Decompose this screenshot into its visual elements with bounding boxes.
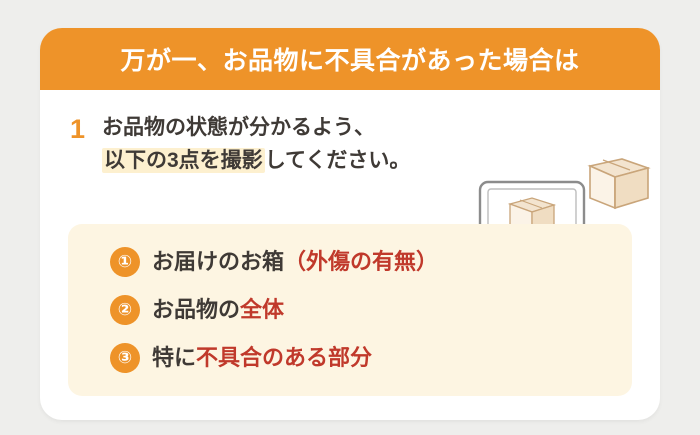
step-highlight: 以下の3点を撮影 <box>102 148 265 173</box>
list-item-accent: （外傷の有無） <box>284 249 438 274</box>
status-badge: ③ <box>110 343 140 373</box>
list-item: ① お届けのお箱（外傷の有無） <box>110 238 622 286</box>
step-line-2-rest: してください。 <box>265 149 411 172</box>
checklist-rows: ① お届けのお箱（外傷の有無） ② お品物の全体 ③ 特に不具合のある部分 <box>110 238 622 382</box>
list-item-text: お品物の <box>152 297 240 322</box>
step-text: お品物の状態が分かるよう、 以下の3点を撮影してください。 <box>102 112 522 177</box>
step-1-block: 1 お品物の状態が分かるよう、 以下の3点を撮影してください。 <box>40 90 660 208</box>
list-item: ③ 特に不具合のある部分 <box>110 334 622 382</box>
info-card: 万が一、お品物に不具合があった場合は 1 お品物の状態が分かるよう、 以下の3点… <box>40 28 660 420</box>
list-item-label: 特に不具合のある部分 <box>152 347 372 369</box>
list-item-text: 特に <box>152 345 196 370</box>
step-line-2: 以下の3点を撮影してください。 <box>102 145 522 178</box>
page-title: 万が一、お品物に不具合があった場合は <box>120 41 579 77</box>
list-item-label: お届けのお箱（外傷の有無） <box>152 251 438 273</box>
step-number: 1 <box>70 116 85 143</box>
step-line-1: お品物の状態が分かるよう、 <box>102 112 522 145</box>
list-item-accent: 全体 <box>240 297 284 322</box>
cardboard-box-icon <box>590 159 648 208</box>
list-item-text: お届けのお箱 <box>152 249 284 274</box>
status-badge: ① <box>110 247 140 277</box>
checklist-panel: ① お届けのお箱（外傷の有無） ② お品物の全体 ③ 特に不具合のある部分 <box>68 224 632 396</box>
status-badge: ② <box>110 295 140 325</box>
list-item-accent: 不具合のある部分 <box>196 345 372 370</box>
list-item: ② お品物の全体 <box>110 286 622 334</box>
card-header-band: 万が一、お品物に不具合があった場合は <box>40 28 660 90</box>
screenshot-root: 万が一、お品物に不具合があった場合は 1 お品物の状態が分かるよう、 以下の3点… <box>0 0 700 435</box>
list-item-label: お品物の全体 <box>152 299 284 321</box>
